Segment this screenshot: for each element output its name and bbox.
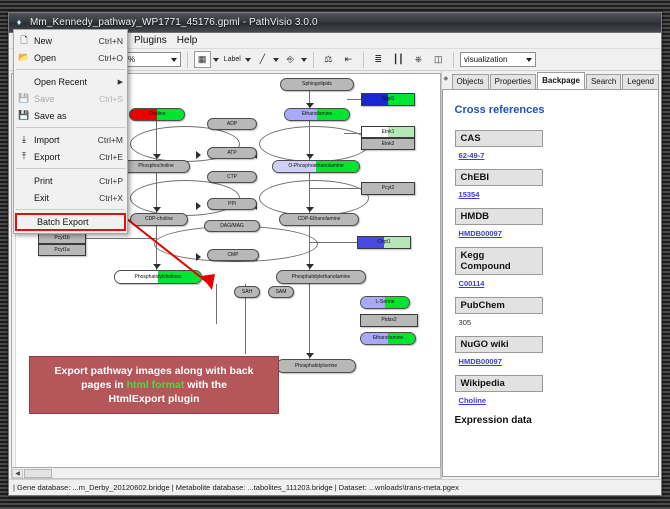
menu-help[interactable]: Help: [172, 34, 203, 48]
node-label: L-Serine: [376, 300, 395, 305]
annotation-line2-prefix: pages in: [81, 379, 127, 391]
annotation-highlight: html format: [127, 379, 185, 391]
toolbar-separator-4: [363, 52, 364, 68]
pathway-metabolite-node[interactable]: L-Serine: [360, 296, 410, 309]
node-label: Phosphatidylethanolamine: [292, 275, 351, 280]
node-label: CDP-Ethanolamine: [298, 217, 341, 222]
xref-block: PubChem305: [455, 297, 648, 327]
chevron-down-icon: [171, 58, 177, 62]
desktop-background: ♦ Mm_Kennedy_pathway_WP1771_45176.gpml -…: [0, 0, 670, 509]
file-menu-item-accelerator: Ctrl+O: [98, 53, 123, 63]
pathway-metabolite-node[interactable]: Ethanolamine: [284, 108, 350, 121]
file-menu-item-label: Open: [34, 53, 98, 63]
visualization-value: visualization: [464, 55, 508, 64]
backpage-panel: Cross references CAS62-49-7ChEBI15354HMD…: [442, 89, 659, 477]
arrowhead-cdpetn-down: [306, 264, 314, 269]
file-menu-item-accelerator: Ctrl+E: [99, 152, 123, 162]
label-button[interactable]: Label: [222, 56, 243, 63]
pathway-gene-node[interactable]: Ptdss2: [360, 314, 418, 327]
align-center-button[interactable]: ≣: [370, 51, 387, 68]
shape-tool-button[interactable]: ⎆: [282, 51, 299, 68]
file-menu-item-import[interactable]: ⤓ImportCtrl+M: [14, 131, 127, 148]
toolbar-separator-5: [453, 52, 454, 68]
expression-data-title: Expression data: [455, 415, 648, 426]
gene-label: Ptdss2: [381, 318, 396, 323]
xref-block: ChEBI15354: [455, 169, 648, 199]
node-label: Ethanolamine: [373, 336, 404, 341]
gene-label: Etnk1: [382, 130, 395, 135]
canvas-horizontal-scrollbar[interactable]: ◀: [11, 468, 441, 479]
file-menu-item-save: 💾SaveCtrl+S: [14, 90, 127, 107]
scroll-left-arrow-icon[interactable]: ◀: [12, 469, 23, 478]
file-menu-item-print[interactable]: PrintCtrl+P: [14, 172, 127, 189]
xref-header: NuGO wiki: [455, 336, 543, 353]
save-as-disk-icon: 💾: [14, 110, 34, 121]
datanode-button[interactable]: ▦: [194, 51, 211, 68]
file-menu-item-exit[interactable]: ExitCtrl+X: [14, 189, 127, 206]
file-menu-item-label: Save: [34, 94, 99, 104]
pathway-gene-node[interactable]: Sgpl1: [361, 93, 415, 106]
file-menu-separator: [16, 209, 125, 210]
annotation-text: Export pathway images along with back pa…: [55, 364, 254, 406]
chevron-down-icon-2: [526, 58, 532, 62]
gene-label: Pcyt2: [382, 186, 395, 191]
toolbar-separator-2: [187, 52, 188, 68]
status-bar: | Gene database: ...m_Derby_20120602.bri…: [9, 479, 661, 495]
pathvisio-app-icon: ♦: [13, 17, 25, 29]
arrowhead-to-ptdserine: [306, 353, 314, 358]
sidebar-splitter-handle[interactable]: ◆: [444, 74, 450, 84]
submenu-chevron-right-icon: ▶: [118, 78, 123, 86]
pathway-gene-node[interactable]: Chpt1: [357, 236, 411, 249]
align-left-button[interactable]: ⇤: [340, 51, 357, 68]
node-label: Ethanolamine: [302, 112, 333, 117]
xref-header: Kegg Compound: [455, 247, 543, 275]
annotation-line2-suffix: with the: [184, 379, 227, 391]
edge-ptdetn-to-ptdserine: [309, 284, 310, 362]
shape-dropdown-icon[interactable]: [301, 58, 307, 62]
window-title: Mm_Kennedy_pathway_WP1771_45176.gpml - P…: [30, 17, 318, 28]
save-disk-icon: 💾: [14, 93, 34, 104]
open-folder-icon: 📂: [14, 52, 34, 63]
node-label: Phosphatidylserine: [295, 364, 337, 369]
xref-header: CAS: [455, 130, 543, 147]
file-menu-item-batch-export[interactable]: Batch Export: [15, 213, 126, 231]
file-menu-separator: [16, 127, 125, 128]
cross-references-list: CAS62-49-7ChEBI15354HMDBHMDB00097Kegg Co…: [455, 130, 648, 405]
file-menu-item-accelerator: Ctrl+P: [99, 176, 123, 186]
file-menu-item-label: Batch Export: [37, 217, 120, 227]
file-menu-item-label: Import: [34, 135, 98, 145]
new-document-icon: 🗋: [14, 33, 34, 49]
file-menu-item-label: Print: [34, 176, 99, 186]
file-menu-item-export[interactable]: ⤒ExportCtrl+E: [14, 148, 127, 165]
pathway-gene-node[interactable]: Pcyt2: [361, 182, 415, 195]
file-menu-item-label: New: [34, 36, 99, 46]
xref-header: Wikipedia: [455, 375, 543, 392]
line-dropdown-icon[interactable]: [273, 58, 279, 62]
file-menu-item-accelerator: Ctrl+X: [99, 193, 123, 203]
xref-link[interactable]: HMDB00097: [459, 357, 648, 366]
xref-header: PubChem: [455, 297, 543, 314]
line-tool-button[interactable]: ╱: [254, 51, 271, 68]
stack-button[interactable]: ⎈: [410, 51, 427, 68]
tab-objects[interactable]: Objects: [452, 74, 489, 89]
pathway-metabolite-node[interactable]: Phosphatidylethanolamine: [276, 270, 366, 284]
pathway-gene-node[interactable]: Etnk1: [361, 126, 415, 138]
xref-block: HMDBHMDB00097: [455, 208, 648, 238]
xref-block: WikipediaCholine: [455, 375, 648, 405]
right-sidebar: ◆ Objects Properties Backpage Search Leg…: [442, 71, 661, 479]
file-menu-item-label: Save as: [34, 111, 123, 121]
annotation-line3: HtmlExport plugin: [109, 393, 200, 405]
xref-header: ChEBI: [455, 169, 543, 186]
file-dropdown-menu: 🗋NewCtrl+N📂OpenCtrl+OOpen Recent▶💾SaveCt…: [13, 29, 128, 234]
file-menu-item-save-as[interactable]: 💾Save as: [14, 107, 127, 124]
menu-plugins[interactable]: Plugins: [129, 34, 172, 48]
sidebar-tabbar: ◆ Objects Properties Backpage Search Leg…: [442, 73, 659, 89]
xref-block: NuGO wikiHMDB00097: [455, 336, 648, 366]
pathway-metabolite-node[interactable]: Phosphatidylserine: [276, 359, 356, 373]
import-icon: ⤓: [14, 134, 34, 145]
xref-link[interactable]: 62-49-7: [459, 151, 648, 160]
file-menu-item-label: Open Recent: [34, 77, 118, 87]
xref-link[interactable]: HMDB00097: [459, 229, 648, 238]
annotation-line1: Export pathway images along with back: [55, 365, 254, 377]
xref-block: Kegg CompoundC00114: [455, 247, 648, 288]
gene-label: Etnk2: [382, 142, 395, 147]
file-menu-separator: [16, 69, 125, 70]
file-menu-item-open-recent[interactable]: Open Recent▶: [14, 73, 127, 90]
pathway-metabolite-node[interactable]: Sphingolipids: [280, 78, 354, 91]
status-text: | Gene database: ...m_Derby_20120602.bri…: [13, 483, 459, 492]
visualization-select[interactable]: visualization: [460, 52, 536, 67]
annotation-callout: Export pathway images along with back pa…: [29, 356, 279, 414]
file-menu-item-accelerator: Ctrl+N: [99, 36, 123, 46]
xref-block: CAS62-49-7: [455, 130, 648, 160]
tab-properties[interactable]: Properties: [490, 74, 536, 89]
toolbar-separator-3: [313, 52, 314, 68]
xref-header: HMDB: [455, 208, 543, 225]
reaction-loop-etn-kinase: [259, 126, 369, 162]
tab-search[interactable]: Search: [586, 74, 621, 89]
file-menu-item-accelerator: Ctrl+M: [98, 135, 123, 145]
file-menu-item-accelerator: Ctrl+S: [99, 94, 123, 104]
xref-link[interactable]: C00114: [459, 279, 648, 288]
datanode-dropdown-icon[interactable]: [213, 58, 219, 62]
file-menu-item-open[interactable]: 📂OpenCtrl+O: [14, 49, 127, 66]
node-label: SAM: [276, 290, 287, 295]
gene-label: Chpt1: [377, 240, 390, 245]
xref-value: 305: [459, 318, 648, 327]
node-label: Sphingolipids: [302, 82, 332, 87]
anchor-tool-button[interactable]: ⚖: [320, 51, 337, 68]
scrollbar-thumb[interactable]: [24, 469, 52, 478]
pathvisio-application-window: ♦ Mm_Kennedy_pathway_WP1771_45176.gpml -…: [8, 12, 662, 496]
label-dropdown-icon[interactable]: [245, 58, 251, 62]
pathway-metabolite-node[interactable]: Ethanolamine: [360, 332, 416, 345]
cross-references-title: Cross references: [455, 104, 648, 116]
node-label: O-Phosphoethanolamine: [288, 164, 343, 169]
reaction-loop-pcyt2: [259, 180, 369, 216]
pathway-metabolite-node[interactable]: CDP-Ethanolamine: [279, 213, 359, 226]
tab-backpage[interactable]: Backpage: [537, 72, 585, 89]
export-icon: ⤒: [14, 151, 34, 162]
file-menu-separator: [16, 168, 125, 169]
xref-link[interactable]: Choline: [459, 396, 648, 405]
pathway-gene-node[interactable]: Etnk2: [361, 138, 415, 150]
order-button[interactable]: ◫: [430, 51, 447, 68]
file-menu-item-label: Export: [34, 152, 99, 162]
gene-label: Sgpl1: [382, 97, 395, 102]
pathway-metabolite-node[interactable]: O-Phosphoethanolamine: [272, 160, 360, 173]
tab-legend[interactable]: Legend: [622, 74, 659, 89]
file-menu-item-new[interactable]: 🗋NewCtrl+N: [14, 32, 127, 49]
xref-link[interactable]: 15354: [459, 190, 648, 199]
file-menu-item-label: Exit: [34, 193, 99, 203]
distribute-button[interactable]: ┃┃: [390, 51, 407, 68]
